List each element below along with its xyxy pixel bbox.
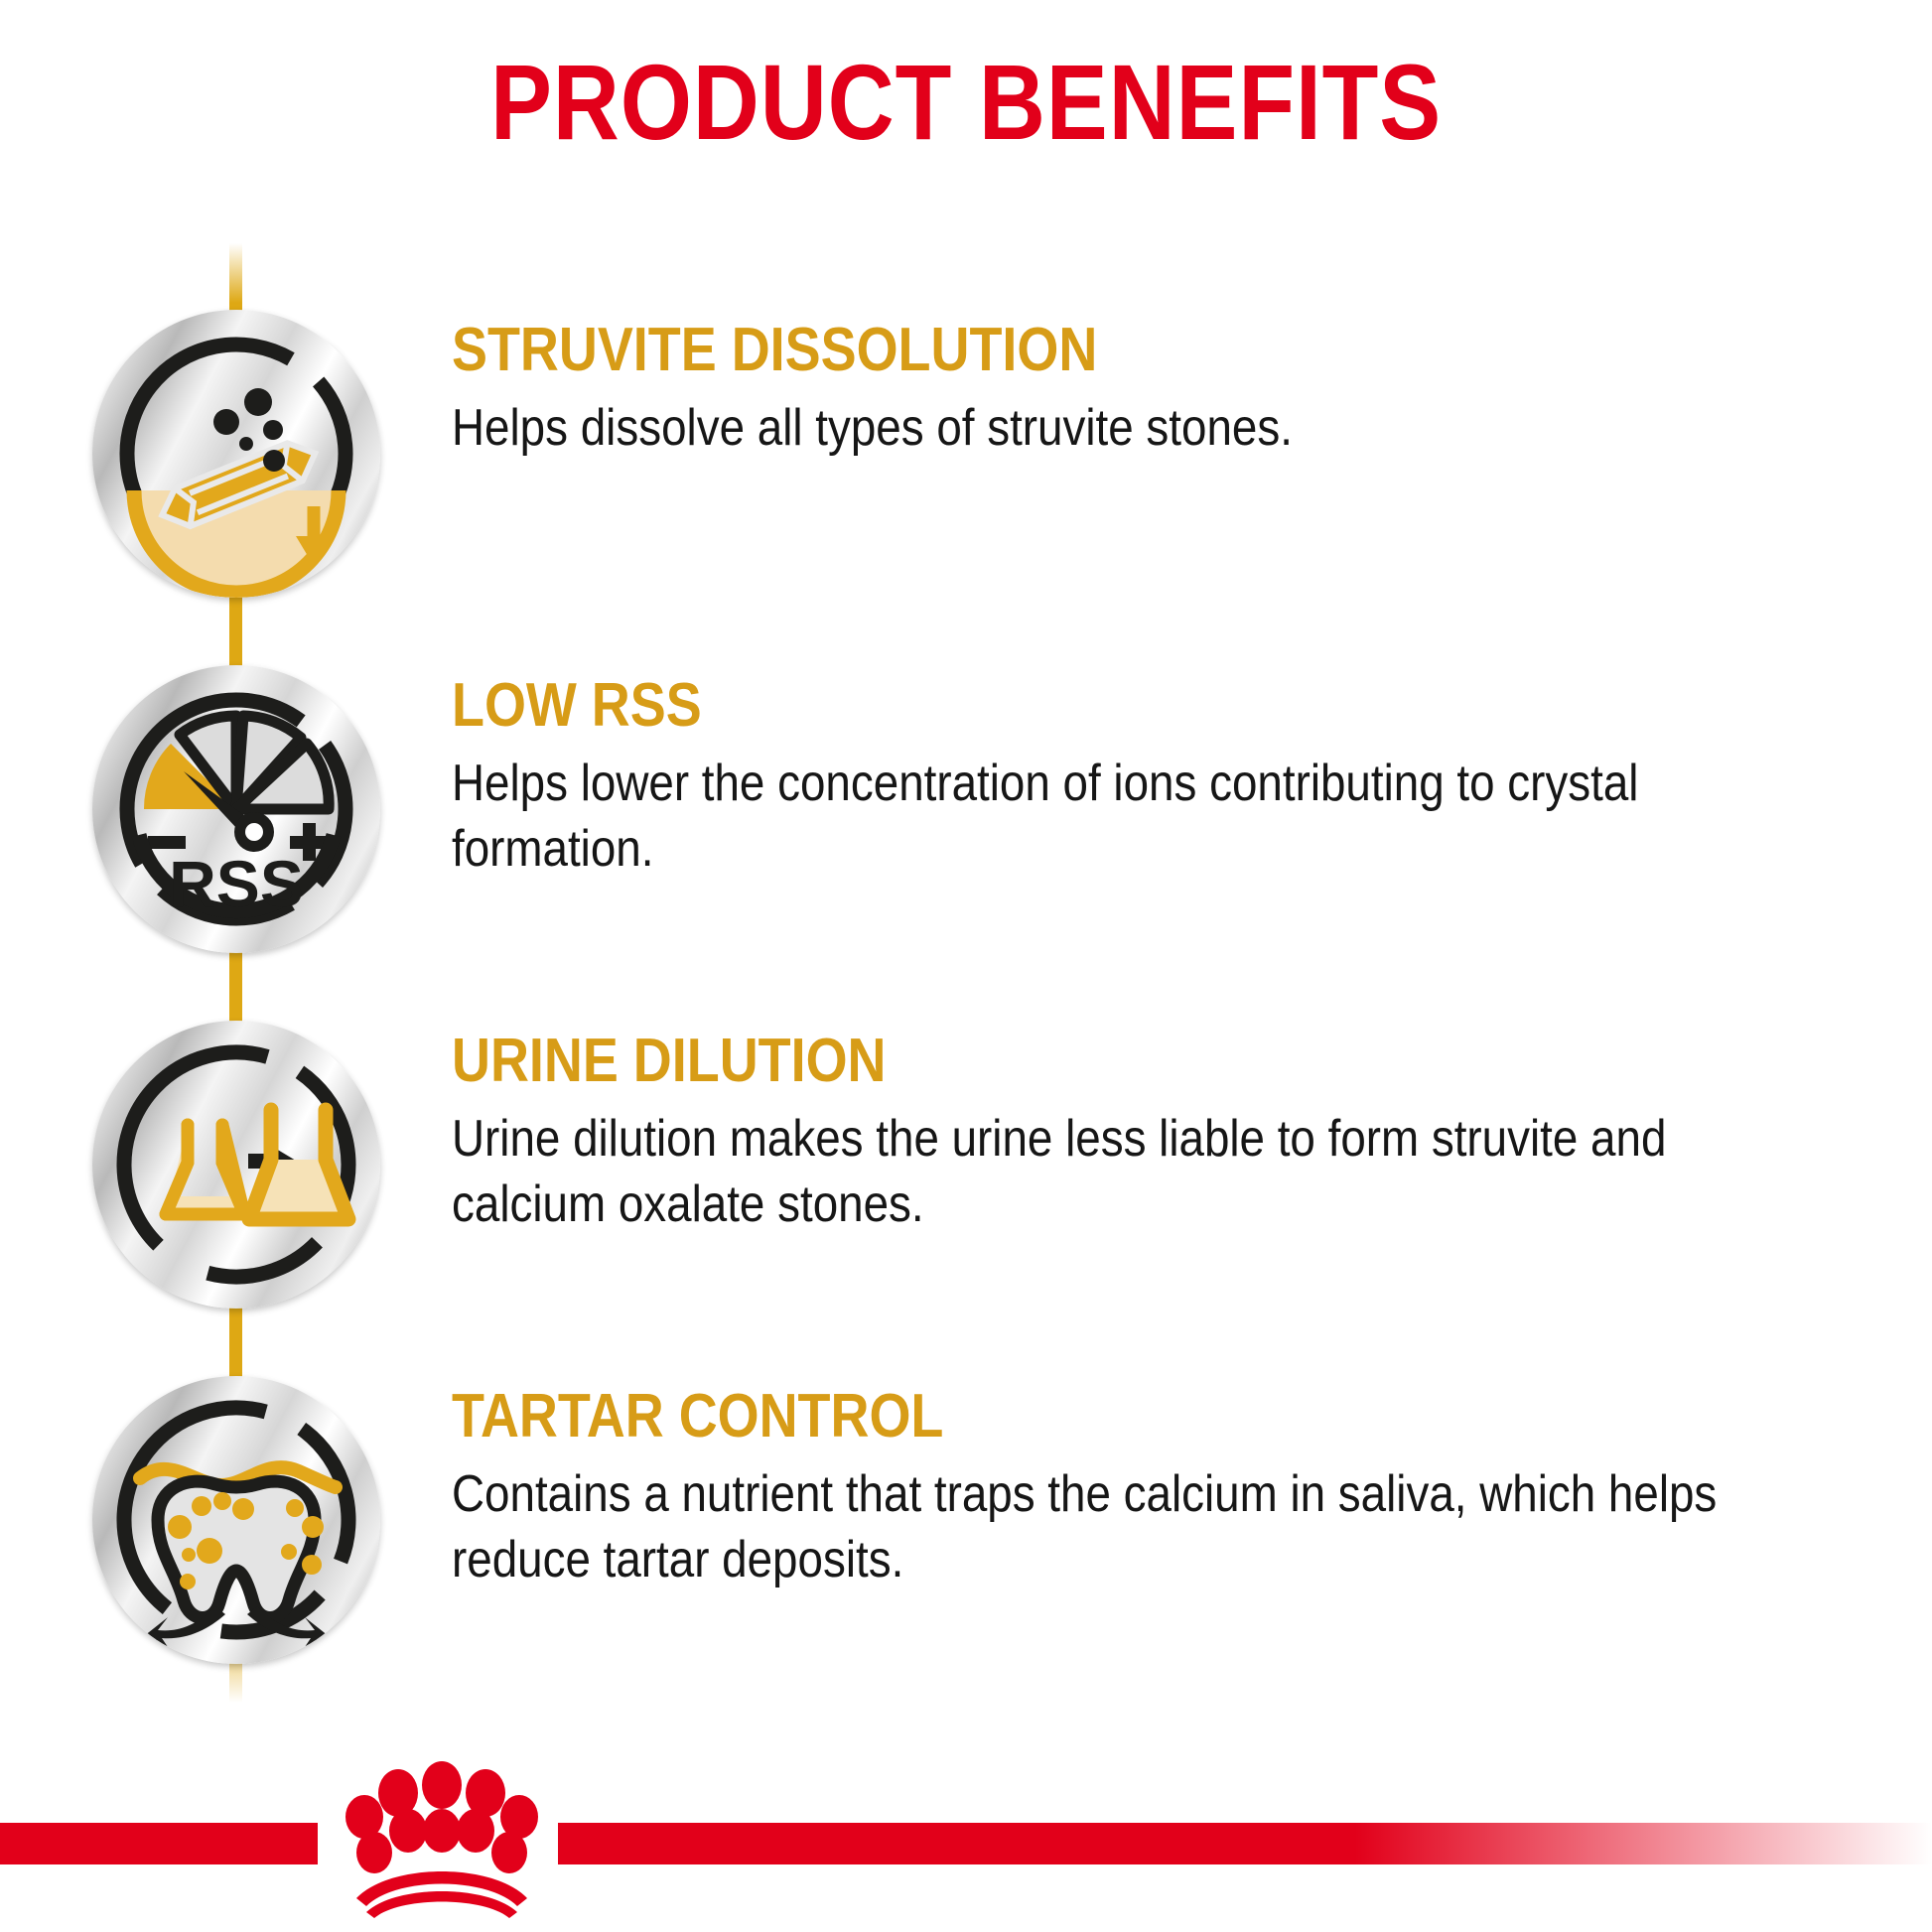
benefit-body: Urine dilution makes the urine less liab… xyxy=(452,1107,1806,1237)
footer-bar-left xyxy=(0,1823,318,1864)
benefit-row-low-rss: RSS LOW RSS Helps lower the concentratio… xyxy=(0,665,1932,953)
benefit-text-struvite-dissolution: STRUVITE DISSOLUTION Helps dissolve all … xyxy=(452,318,1802,462)
two-flasks-dilution-icon xyxy=(92,1021,380,1309)
benefit-text-urine-dilution: URINE DILUTION Urine dilution makes the … xyxy=(452,1029,1802,1237)
benefit-heading: TARTAR CONTROL xyxy=(452,1384,1626,1449)
royal-canin-crown-logo xyxy=(323,1753,561,1922)
rss-gauge-icon: RSS xyxy=(92,665,380,953)
page-title: PRODUCT BENEFITS xyxy=(135,38,1797,167)
footer-bar-right xyxy=(558,1823,1932,1864)
rss-gauge-label: RSS xyxy=(169,847,304,920)
benefit-heading: STRUVITE DISSOLUTION xyxy=(452,318,1626,382)
benefit-body: Helps dissolve all types of struvite sto… xyxy=(452,396,1806,462)
benefit-heading: URINE DILUTION xyxy=(452,1029,1626,1093)
benefit-text-low-rss: LOW RSS Helps lower the concentration of… xyxy=(452,673,1802,882)
benefit-row-urine-dilution: URINE DILUTION Urine dilution makes the … xyxy=(0,1021,1932,1309)
benefit-text-tartar-control: TARTAR CONTROL Contains a nutrient that … xyxy=(452,1384,1802,1592)
benefit-heading: LOW RSS xyxy=(452,673,1626,738)
footer-brand-band xyxy=(0,1733,1932,1932)
benefit-body: Contains a nutrient that traps the calci… xyxy=(452,1462,1806,1592)
benefit-row-tartar-control: TARTAR CONTROL Contains a nutrient that … xyxy=(0,1376,1932,1664)
tooth-tartar-icon xyxy=(92,1376,380,1664)
benefit-row-struvite-dissolution: STRUVITE DISSOLUTION Helps dissolve all … xyxy=(0,310,1932,598)
benefit-body: Helps lower the concentration of ions co… xyxy=(452,752,1806,882)
struvite-stone-dissolving-icon xyxy=(92,310,380,598)
